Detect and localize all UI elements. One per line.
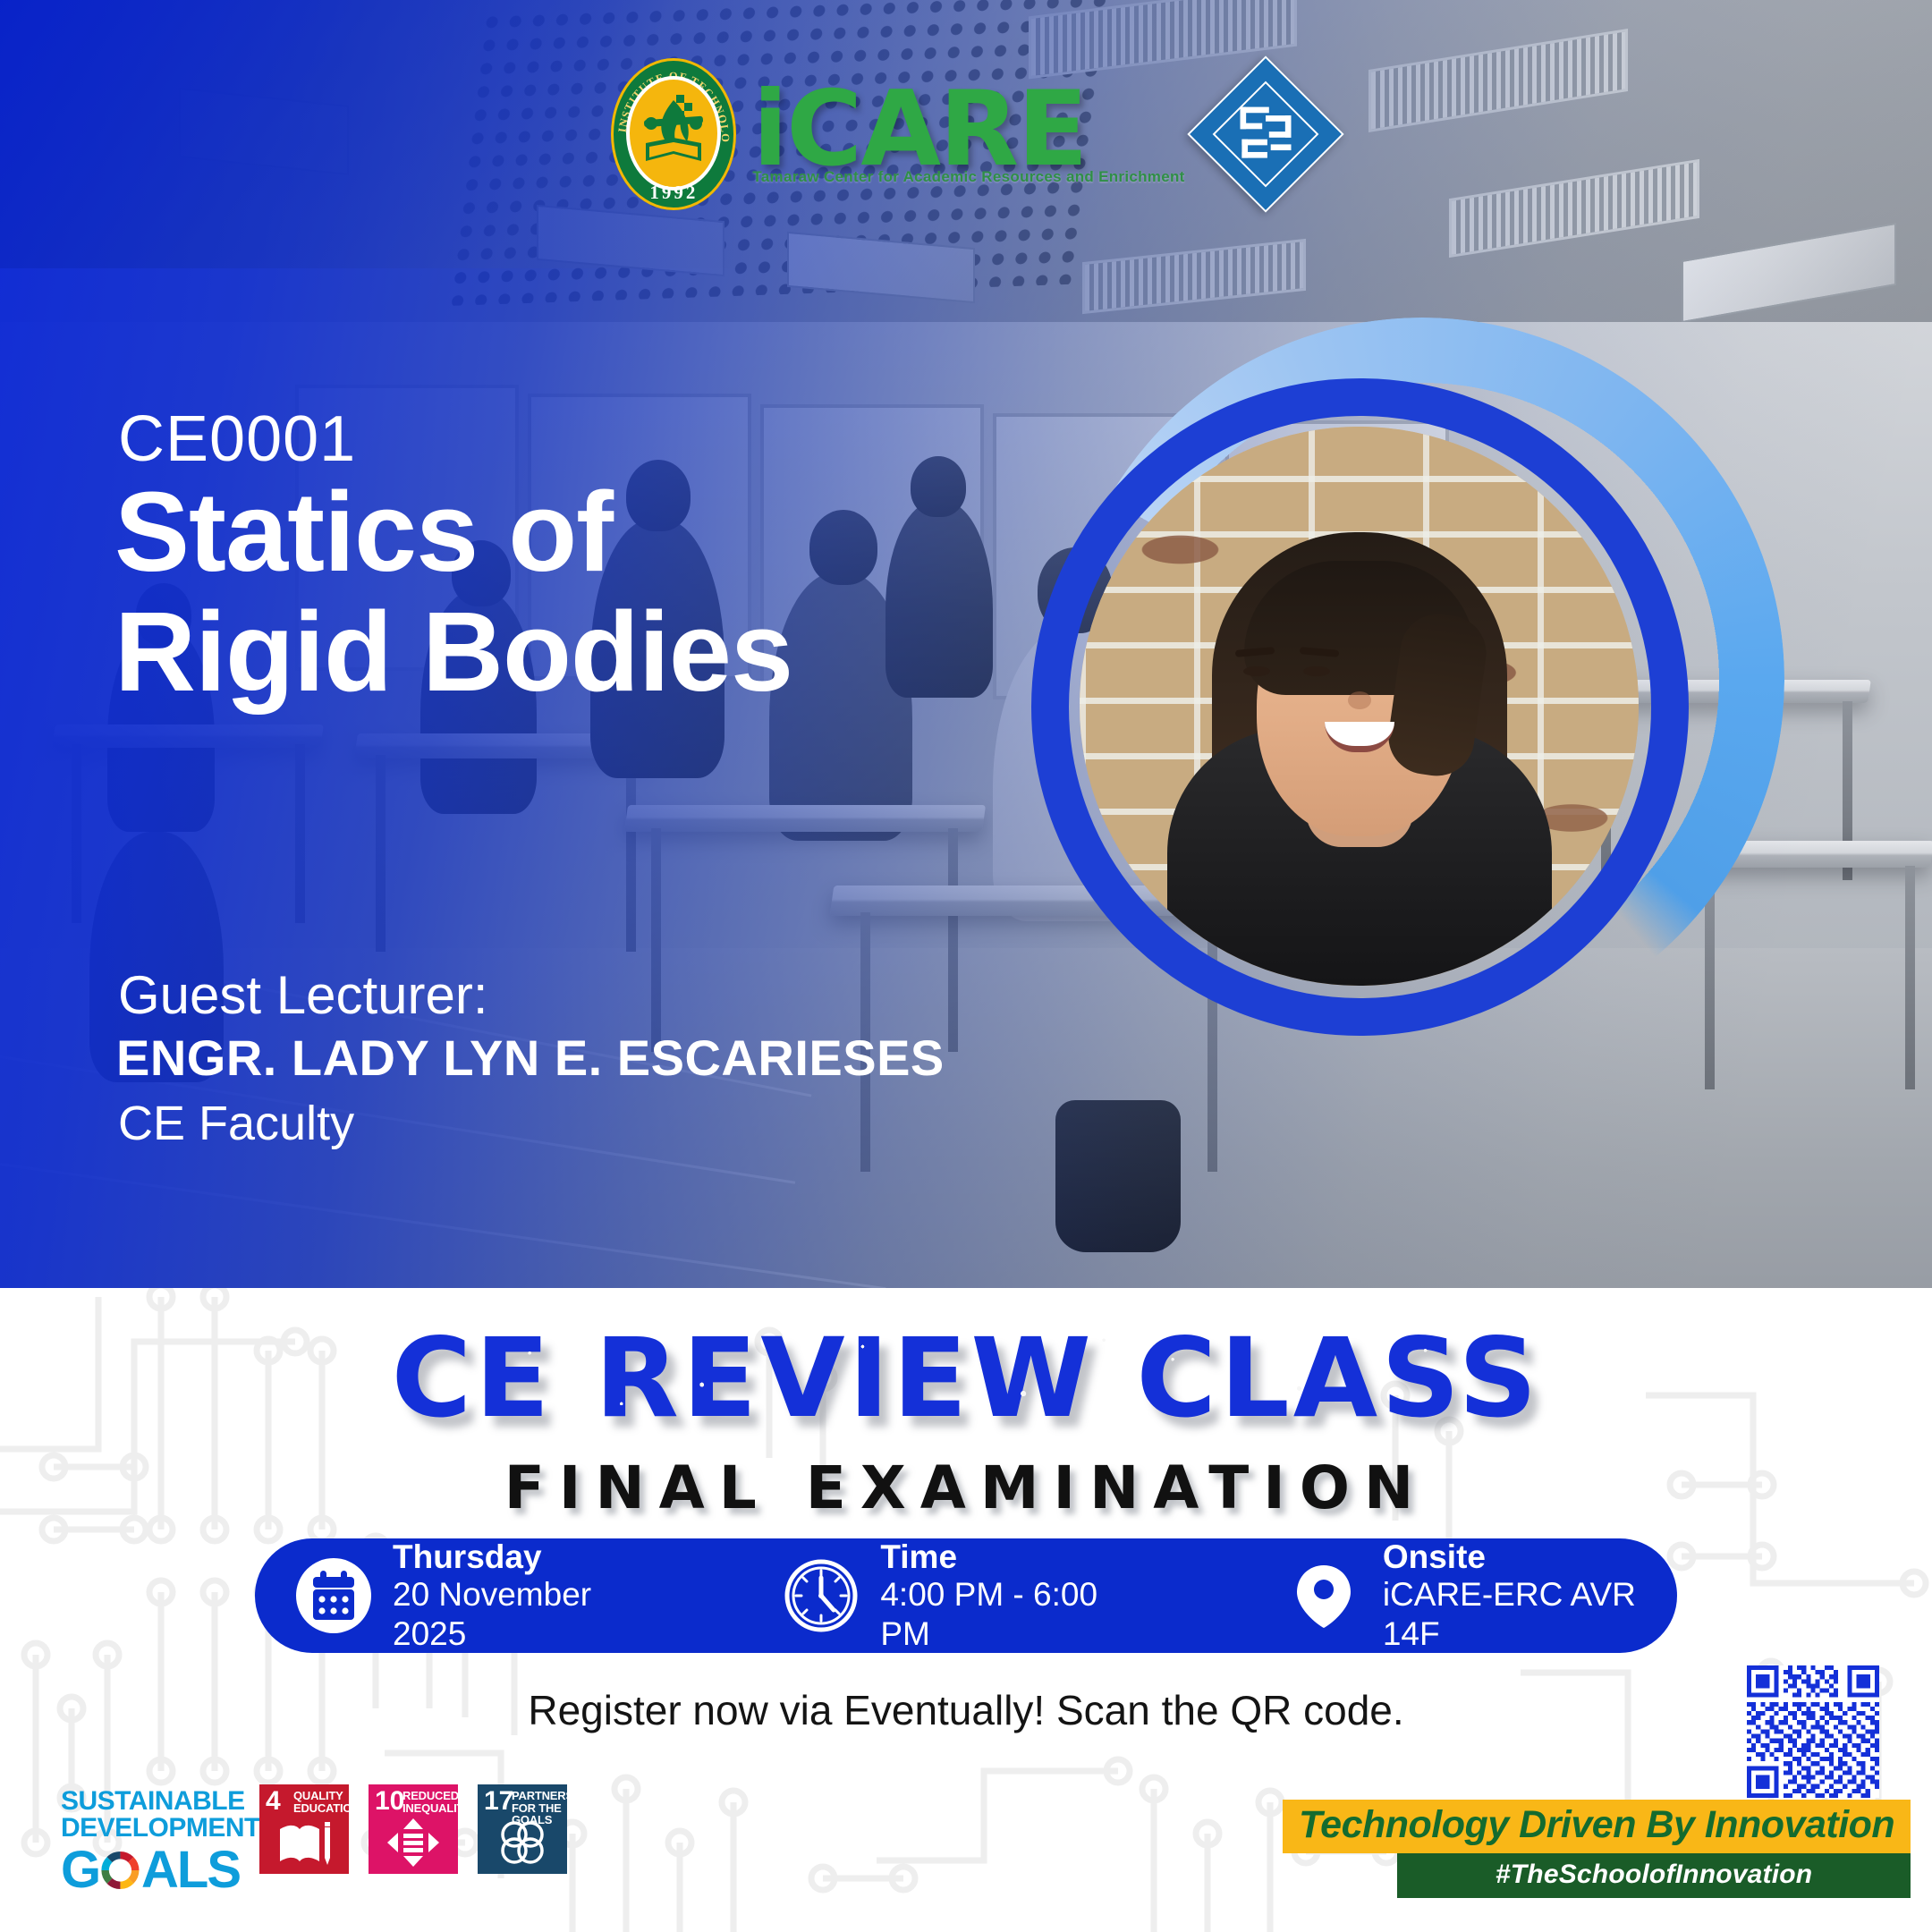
sdg-word-line1: SUSTAINABLE (61, 1788, 240, 1815)
register-note: Register now via Eventually! Scan the QR… (0, 1686, 1932, 1734)
detail-venue: Onsite iCARE-ERC AVR 14F (1286, 1538, 1677, 1654)
detail-venue-label: Onsite (1383, 1538, 1677, 1575)
sdg-word-line3: G ALS (61, 1844, 240, 1896)
nose (1348, 691, 1371, 709)
open-book-pencil-icon (276, 1817, 332, 1868)
sdg-goal-10-name: REDUCED INEQUALITIES (402, 1790, 482, 1814)
detail-date: Thursday 20 November 2025 (296, 1538, 651, 1654)
eye-right (1303, 666, 1330, 676)
sdg-goal-17-name-l1: PARTNERSHIPS (512, 1790, 599, 1802)
guest-lecturer-role: CE Faculty (118, 1096, 354, 1151)
sdg-goal-10-name-l1: REDUCED (402, 1790, 482, 1802)
sdg-goal-10-name-l2: INEQUALITIES (402, 1802, 482, 1815)
detail-venue-text: Onsite iCARE-ERC AVR 14F (1383, 1538, 1677, 1654)
hair-front (1244, 561, 1475, 695)
course-code: CE0001 (118, 402, 356, 476)
sdg-goal-10-number: 10 (375, 1788, 404, 1815)
sdg-goal-4-number: 4 (266, 1788, 281, 1815)
sdg-goals-g: G (61, 1844, 99, 1896)
feu-flame-icon (640, 93, 707, 170)
event-details-bar: Thursday 20 November 2025 (255, 1538, 1677, 1653)
hero-section: FEU INSTITUTE OF TECHNOLOGY 1992 iCARE (0, 0, 1932, 1288)
detail-venue-value: iCARE-ERC AVR 14F (1383, 1575, 1677, 1653)
event-title-text: CE REVIEW CLASS (392, 1315, 1541, 1442)
icare-wordmark: iCARE (752, 82, 1184, 178)
tagline-primary: Technology Driven By Innovation (1283, 1800, 1911, 1853)
institution-tagline: Technology Driven By Innovation #TheScho… (1283, 1800, 1911, 1898)
equality-arrows-icon (386, 1817, 441, 1868)
aces-logo (1187, 55, 1343, 212)
guest-lecturer-label: Guest Lecturer: (118, 964, 488, 1026)
sdg-goal-4: 4 QUALITY EDUCATION (259, 1784, 349, 1874)
sdg-goal-17: 17 PARTNERSHIPS FOR THE GOALS (478, 1784, 567, 1874)
detail-time-label: Time (880, 1538, 1133, 1575)
speaker-portrait-block (1060, 318, 1784, 1060)
feu-year: 1992 (611, 182, 736, 204)
clock-icon (784, 1558, 859, 1633)
feu-logo: FEU INSTITUTE OF TECHNOLOGY 1992 (611, 58, 736, 210)
sdg-goal-10: 10 REDUCED INEQUALITIES (369, 1784, 458, 1874)
sdg-wordmark: SUSTAINABLE DEVELOPMENT G (61, 1784, 240, 1896)
interlocking-circles-icon (495, 1817, 550, 1868)
detail-date-label: Thursday (393, 1538, 651, 1575)
calendar-icon (296, 1558, 371, 1633)
qr-code[interactable] (1747, 1665, 1879, 1798)
icare-tagline: Tamaraw Center for Academic Resources an… (752, 168, 1184, 186)
aces-monogram-icon (1232, 100, 1300, 168)
event-title: CE REVIEW CLASS (0, 1315, 1932, 1442)
speaker-avatar (1080, 427, 1639, 986)
sdg-goal-4-name: QUALITY EDUCATION (293, 1790, 360, 1814)
guest-lecturer-name: ENGR. LADY LYN E. ESCARIESES (116, 1029, 945, 1087)
tagline-hashtag: #TheSchoolofInnovation (1397, 1853, 1911, 1898)
sdg-word-line2: DEVELOPMENT (61, 1815, 240, 1842)
sdg-goal-17-number: 17 (484, 1788, 513, 1815)
sdg-logos: SUSTAINABLE DEVELOPMENT G (61, 1784, 567, 1896)
detail-time: Time 4:00 PM - 6:00 PM (784, 1538, 1133, 1654)
icare-logo: iCARE Tamaraw Center for Academic Resour… (752, 82, 1184, 187)
detail-time-text: Time 4:00 PM - 6:00 PM (880, 1538, 1133, 1654)
sdg-goal-4-name-l1: QUALITY (293, 1790, 360, 1802)
event-subtitle: FINAL EXAMINATION (0, 1453, 1932, 1522)
course-title: Statics of Rigid Bodies (114, 472, 792, 711)
header-logos: FEU INSTITUTE OF TECHNOLOGY 1992 iCARE (0, 49, 1932, 219)
course-title-line-2: Rigid Bodies (114, 592, 792, 712)
sdg-goals-als: ALS (141, 1844, 240, 1896)
sdg-goal-4-name-l2: EDUCATION (293, 1802, 360, 1815)
detail-time-value: 4:00 PM - 6:00 PM (880, 1575, 1133, 1653)
detail-date-value: 20 November 2025 (393, 1575, 651, 1653)
location-pin-icon (1286, 1558, 1361, 1633)
course-title-line-1: Statics of (114, 472, 792, 592)
detail-date-text: Thursday 20 November 2025 (393, 1538, 651, 1654)
sdg-color-wheel-icon (100, 1849, 140, 1892)
eye-left (1243, 666, 1270, 676)
